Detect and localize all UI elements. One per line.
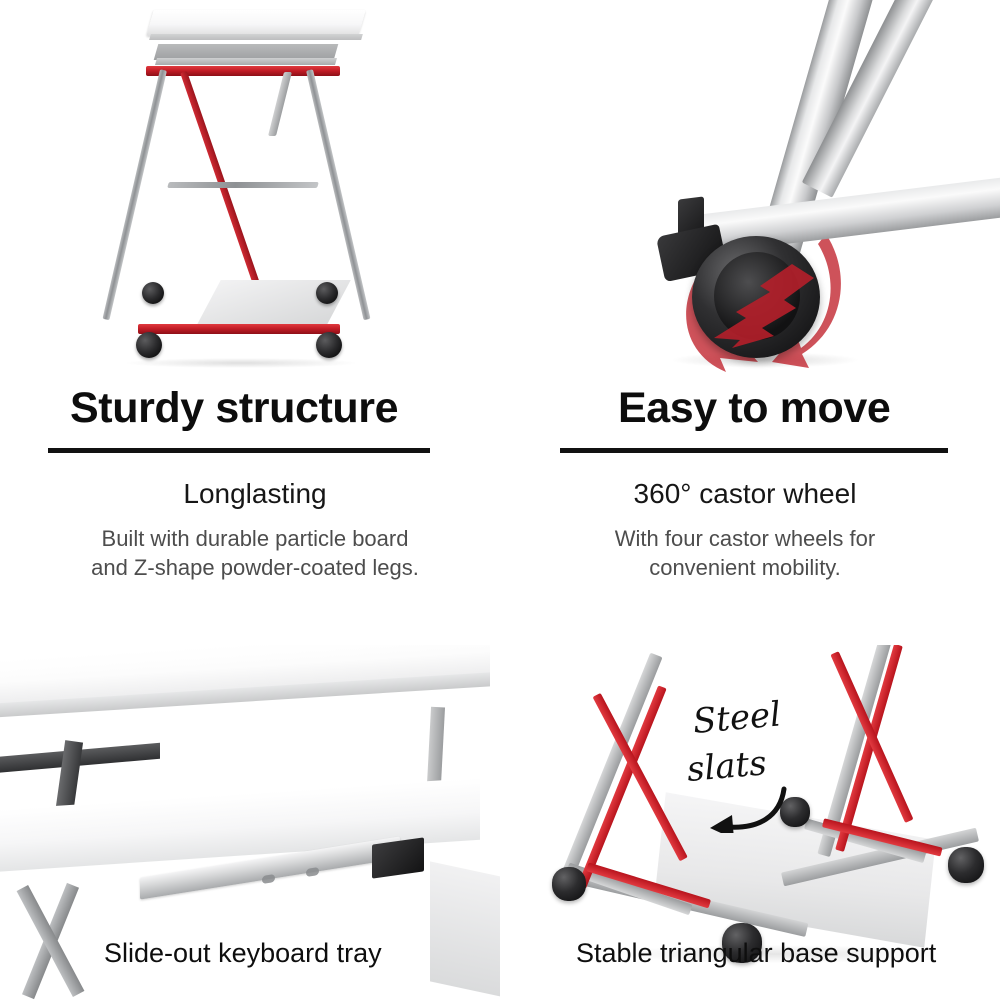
desk-top-board-edge — [149, 34, 363, 40]
desk-castor-wheel — [316, 282, 338, 304]
steel-slats-annotation: Steel slats — [688, 693, 888, 833]
annotation-arrow-curve — [728, 789, 784, 827]
feature-subtitle: Longlasting — [40, 477, 470, 511]
desk-floor-shadow — [126, 358, 356, 368]
z-shape-desk-illustration — [120, 6, 380, 366]
desk-castor-wheel — [136, 332, 162, 358]
base-castor-wheel — [552, 867, 586, 901]
desk-red-rail-bottom — [138, 324, 340, 334]
desk-top-board — [146, 10, 365, 36]
desk-upright-bracket — [268, 72, 292, 136]
feature-title: Easy to move — [530, 386, 960, 431]
feature-title: Sturdy structure — [40, 386, 470, 431]
desk-cross-rung — [167, 182, 319, 188]
feature-divider-rule — [560, 448, 948, 453]
caption-keyboard-tray: Slide-out keyboard tray — [104, 938, 382, 969]
desk-castor-wheel — [316, 332, 342, 358]
photo-sturdy-structure-desk — [0, 0, 500, 380]
triangle-silver-leg — [557, 653, 663, 890]
feature-subtitle: 360° castor wheel — [530, 477, 960, 511]
feature-text-sturdy-structure: Sturdy structure Longlasting Built with … — [40, 386, 470, 582]
tray-side-panel — [430, 861, 500, 1000]
castor-arrow-overlay-icon — [696, 240, 818, 358]
tray-leg-cross — [10, 881, 110, 1000]
photo-easy-to-move-castor — [500, 0, 1000, 380]
tray-rail-hole — [262, 874, 275, 884]
desk-keyboard-tray-face — [155, 58, 337, 65]
feature-body-line-2: and Z-shape powder-coated legs. — [40, 553, 470, 582]
base-castor-wheel — [948, 847, 984, 883]
tray-mount-bracket — [372, 837, 424, 878]
desk-castor-wheel — [142, 282, 164, 304]
annotation-line-1-text: Steel — [691, 694, 782, 742]
feature-body-line-1: With four castor wheels for — [530, 524, 960, 553]
feature-body: With four castor wheels for convenient m… — [530, 524, 960, 583]
feature-body-line-1: Built with durable particle board — [40, 524, 470, 553]
feature-text-easy-to-move: Easy to move 360° castor wheel With four… — [530, 386, 960, 582]
feature-divider-rule — [48, 448, 430, 453]
product-feature-infographic: Sturdy structure Longlasting Built with … — [0, 0, 1000, 1000]
triangle-red-slat-right — [577, 685, 666, 889]
feature-body: Built with durable particle board and Z-… — [40, 524, 470, 583]
caption-triangular-base: Stable triangular base support — [576, 938, 936, 969]
annotation-line-2-text: slats — [688, 743, 768, 790]
annotation-arrow-head — [710, 815, 734, 833]
tray-rail-hole — [306, 867, 319, 877]
feature-body-line-2: convenient mobility. — [530, 553, 960, 582]
castor-wheel-illustration — [500, 0, 1000, 380]
